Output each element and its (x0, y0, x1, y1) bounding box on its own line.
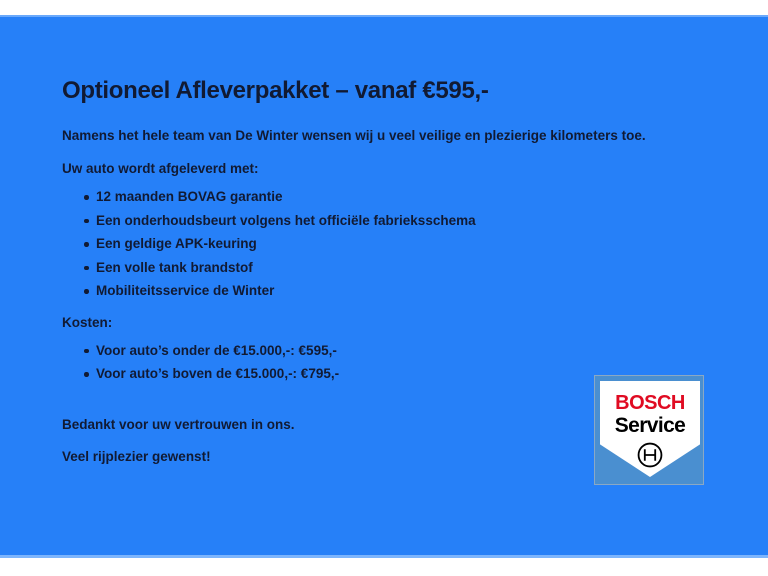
logo-subbrand-text: Service (600, 415, 700, 436)
bosch-armature-icon (637, 442, 663, 468)
bullet-icon (84, 195, 89, 200)
intro-paragraph: Namens het hele team van De Winter wense… (62, 104, 712, 145)
bullet-icon (84, 266, 89, 271)
bullet-icon (84, 289, 89, 294)
list-item-label: Een volle tank brandstof (96, 260, 253, 275)
list-item-label: Voor auto’s onder de €15.000,-: €595,- (96, 343, 337, 358)
features-list: 12 maanden BOVAG garantie Een onderhouds… (62, 178, 712, 298)
list-item-label: Een geldige APK-keuring (96, 236, 257, 251)
list-item: Voor auto’s onder de €15.000,-: €595,- (62, 344, 712, 358)
bullet-icon (84, 349, 89, 354)
bosch-service-logo: BOSCH Service (594, 375, 704, 485)
costs-list: Voor auto’s onder de €15.000,-: €595,- V… (62, 332, 712, 381)
bullet-icon (84, 219, 89, 224)
list-item-label: 12 maanden BOVAG garantie (96, 189, 283, 204)
logo-brand-text: BOSCH (600, 393, 700, 413)
page-title: Optioneel Afleverpakket – vanaf €595,- (62, 15, 712, 104)
list-item-label: Een onderhoudsbeurt volgens het officiël… (96, 213, 476, 228)
bullet-icon (84, 242, 89, 247)
list-item-label: Voor auto’s boven de €15.000,-: €795,- (96, 366, 339, 381)
logo-shield-panel: BOSCH Service (600, 381, 700, 477)
slide-canvas: Optioneel Afleverpakket – vanaf €595,- N… (0, 0, 768, 576)
delivery-lead-in: Uw auto wordt afgeleverd met: (62, 145, 712, 178)
list-item: Mobiliteitsservice de Winter (62, 284, 712, 298)
list-item: Een onderhoudsbeurt volgens het officiël… (62, 214, 712, 228)
list-item: 12 maanden BOVAG garantie (62, 190, 712, 204)
list-item-label: Mobiliteitsservice de Winter (96, 283, 274, 298)
list-item: Een volle tank brandstof (62, 261, 712, 275)
list-item: Een geldige APK-keuring (62, 237, 712, 251)
costs-label: Kosten: (62, 298, 712, 332)
bullet-icon (84, 372, 89, 377)
